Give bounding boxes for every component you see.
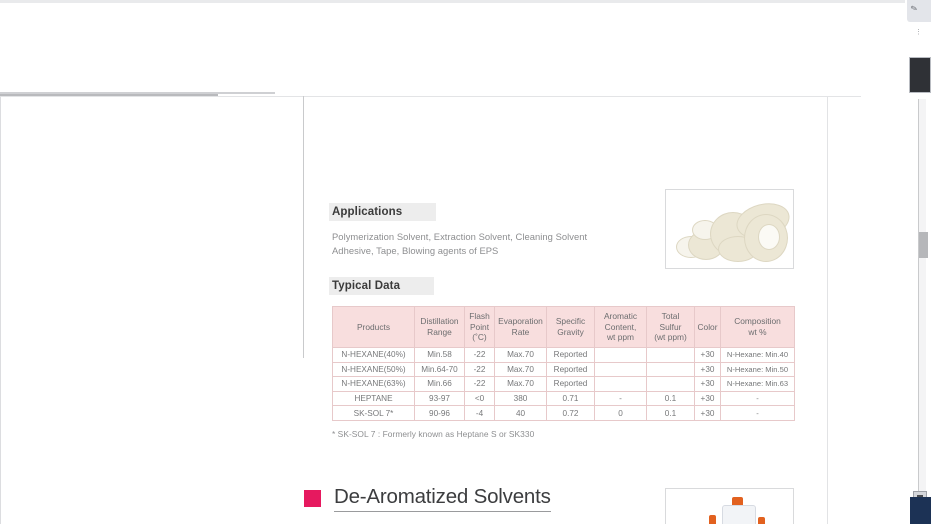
col-flash-point: FlashPoint(˚C) (465, 307, 495, 348)
cell-aromatic-content (595, 348, 647, 363)
extension-dark-panel[interactable] (909, 57, 931, 93)
col-products: Products (333, 307, 415, 348)
cell-total-sulfur: 0.1 (647, 406, 695, 421)
cell-evaporation-rate: 380 (495, 391, 547, 406)
page-left-rule (303, 96, 304, 358)
table-header-row: Products DistillationRange FlashPoint(˚C… (333, 307, 795, 348)
col-distillation-range: DistillationRange (415, 307, 465, 348)
cell-flash-point: -4 (465, 406, 495, 421)
cell-evaporation-rate: Max.70 (495, 377, 547, 392)
cell-aromatic-content (595, 362, 647, 377)
applications-text-line-2: Adhesive, Tape, Blowing agents of EPS (332, 244, 662, 258)
taskbar-corner (910, 497, 931, 524)
cell-color: +30 (695, 391, 721, 406)
typical-data-table-wrap: Products DistillationRange FlashPoint(˚C… (332, 306, 662, 421)
screen: Applications Polymerization Solvent, Ext… (0, 0, 931, 524)
applications-section: Applications Polymerization Solvent, Ext… (332, 202, 662, 439)
applications-text-line-1: Polymerization Solvent, Extraction Solve… (332, 230, 662, 244)
section-title: De-Aromatized Solvents (334, 485, 551, 512)
cell-product: N-HEXANE(50%) (333, 362, 415, 377)
cell-aromatic-content: 0 (595, 406, 647, 421)
cell-flash-point: <0 (465, 391, 495, 406)
cell-color: +30 (695, 362, 721, 377)
cell-distillation-range: Min.64-70 (415, 362, 465, 377)
cell-total-sulfur (647, 362, 695, 377)
cell-color: +30 (695, 406, 721, 421)
cell-composition: N-Hexane: Min.50 (721, 362, 795, 377)
cell-composition: - (721, 391, 795, 406)
de-aromatized-solvents-heading: De-Aromatized Solvents (304, 485, 551, 512)
cell-evaporation-rate: Max.70 (495, 348, 547, 363)
cell-aromatic-content (595, 377, 647, 392)
cell-total-sulfur: 0.1 (647, 391, 695, 406)
cell-distillation-range: Min.58 (415, 348, 465, 363)
table-row: SK-SOL 7*90-96-4400.7200.1+30- (333, 406, 795, 421)
cell-distillation-range: 90-96 (415, 406, 465, 421)
col-total-sulfur: TotalSulfur(wt ppm) (647, 307, 695, 348)
cell-evaporation-rate: 40 (495, 406, 547, 421)
cell-composition: N-Hexane: Min.40 (721, 348, 795, 363)
col-specific-gravity: SpecificGravity (547, 307, 595, 348)
cell-distillation-range: 93-97 (415, 391, 465, 406)
table-row: N-HEXANE(63%)Min.66-22Max.70Reported+30N… (333, 377, 795, 392)
cell-flash-point: -22 (465, 377, 495, 392)
cell-color: +30 (695, 377, 721, 392)
table-row: HEPTANE93-97<03800.71-0.1+30- (333, 391, 795, 406)
table-row: N-HEXANE(50%)Min.64-70-22Max.70Reported+… (333, 362, 795, 377)
page-right-rule (827, 97, 828, 524)
cell-product: HEPTANE (333, 391, 415, 406)
cell-distillation-range: Min.66 (415, 377, 465, 392)
col-evaporation-rate: EvaporationRate (495, 307, 547, 348)
more-options-icon[interactable]: ⋮ (915, 30, 917, 35)
table-body: N-HEXANE(40%)Min.58-22Max.70Reported+30N… (333, 348, 795, 421)
cell-composition: - (721, 406, 795, 421)
vertical-scrollbar[interactable] (918, 99, 926, 499)
typical-data-table: Products DistillationRange FlashPoint(˚C… (332, 306, 795, 421)
cell-composition: N-Hexane: Min.63 (721, 377, 795, 392)
glue-bottles-image (665, 488, 794, 524)
cell-specific-gravity: Reported (547, 348, 595, 363)
viewer-top-edge (0, 0, 905, 3)
cell-total-sulfur (647, 348, 695, 363)
cell-specific-gravity: Reported (547, 377, 595, 392)
cell-specific-gravity: Reported (547, 362, 595, 377)
applications-text: Polymerization Solvent, Extraction Solve… (332, 230, 662, 257)
scrollbar-thumb[interactable] (919, 232, 928, 258)
cell-aromatic-content: - (595, 391, 647, 406)
col-composition: Compositionwt % (721, 307, 795, 348)
section-marker-icon (304, 490, 321, 507)
cell-product: SK-SOL 7* (333, 406, 415, 421)
cell-specific-gravity: 0.71 (547, 391, 595, 406)
document-page[interactable]: Applications Polymerization Solvent, Ext… (0, 96, 861, 524)
typical-data-heading: Typical Data (329, 277, 434, 295)
cell-total-sulfur (647, 377, 695, 392)
table-row: N-HEXANE(40%)Min.58-22Max.70Reported+30N… (333, 348, 795, 363)
col-aromatic-content: AromaticContent,wt ppm (595, 307, 647, 348)
cell-specific-gravity: 0.72 (547, 406, 595, 421)
typical-data-footnote: * SK-SOL 7 : Formerly known as Heptane S… (332, 429, 662, 439)
cell-flash-point: -22 (465, 348, 495, 363)
col-color: Color (695, 307, 721, 348)
cell-evaporation-rate: Max.70 (495, 362, 547, 377)
cell-color: +30 (695, 348, 721, 363)
adhesive-tape-image (665, 189, 794, 269)
cell-product: N-HEXANE(40%) (333, 348, 415, 363)
cell-flash-point: -22 (465, 362, 495, 377)
applications-heading: Applications (329, 203, 436, 221)
cell-product: N-HEXANE(63%) (333, 377, 415, 392)
